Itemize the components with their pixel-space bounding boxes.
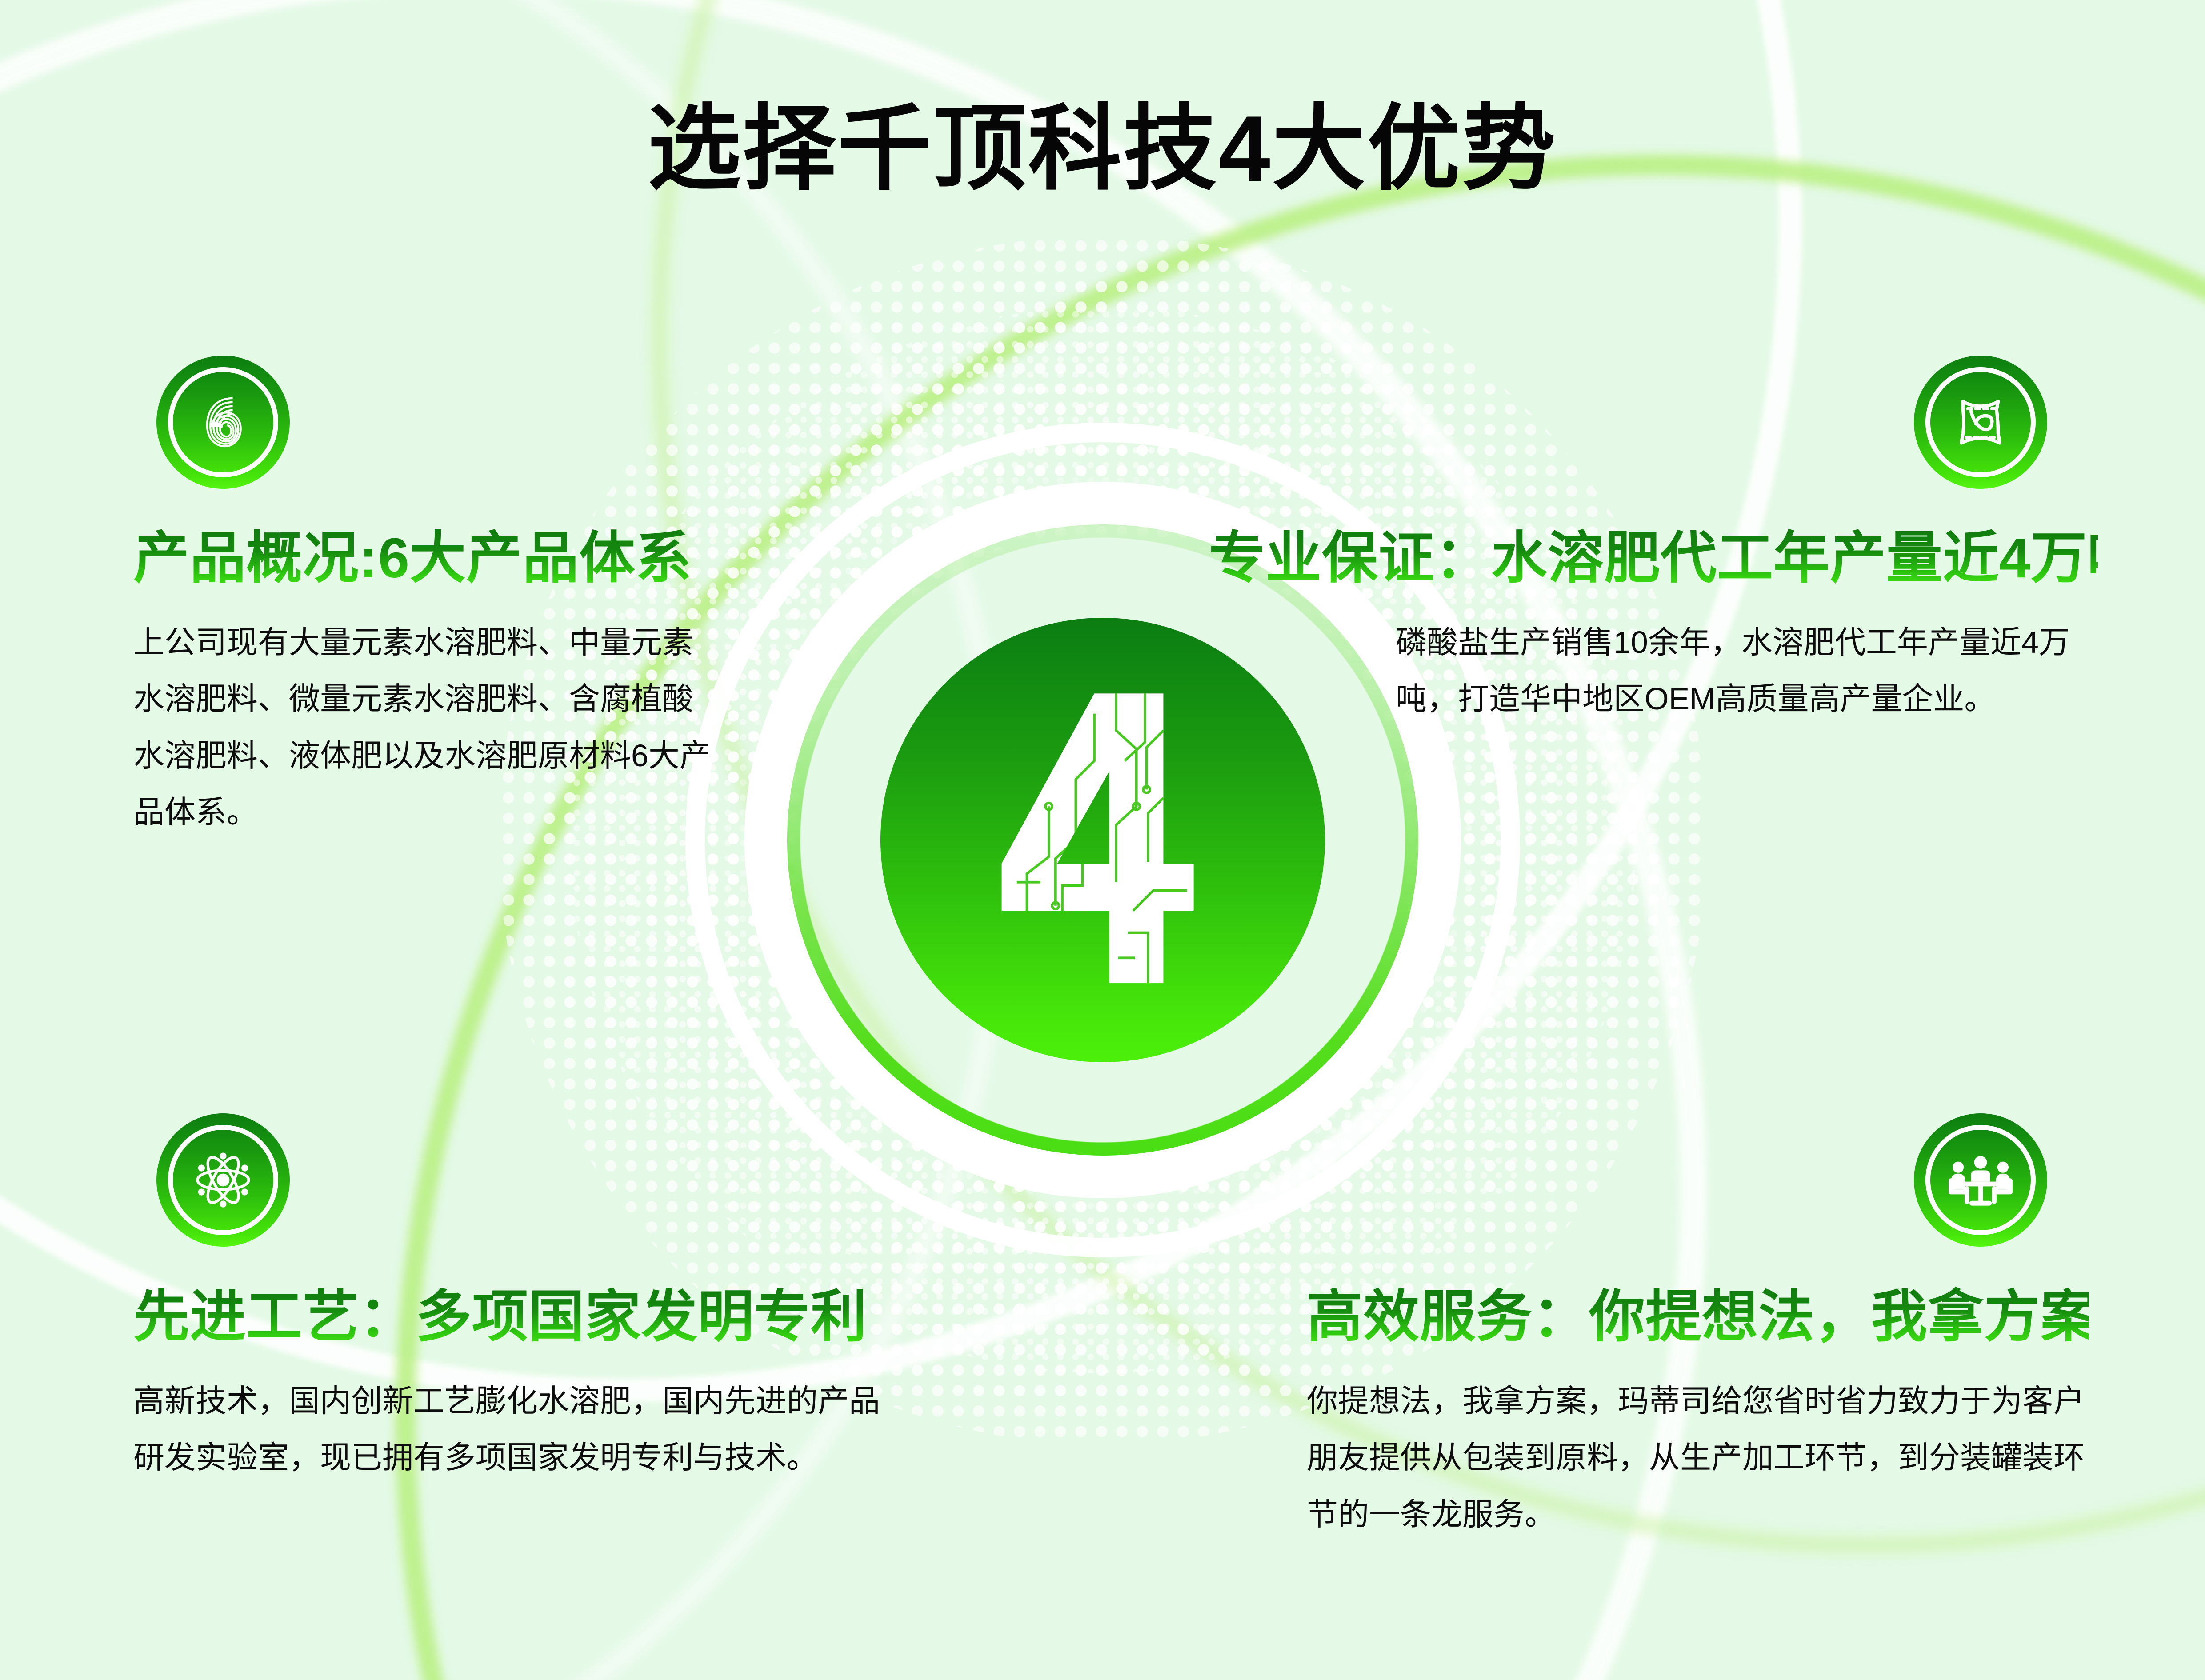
atom-icon <box>183 1140 263 1220</box>
feature-icon-professional-guarantee[interactable] <box>1914 356 2047 489</box>
feature-heading: 产品概况:6大产品体系 <box>133 528 711 588</box>
feature-block-professional-guarantee: 专业保证：水溶肥代工年产量近4万吨 磷酸盐生产销售10余年，水溶肥代工年产量近4… <box>1209 528 2098 728</box>
feature-block-advanced-process: 先进工艺：多项国家发明专利 高新技术，国内创新工艺膨化水溶肥，国内先进的产品研发… <box>133 1287 898 1486</box>
numeral-six-icon <box>183 382 263 462</box>
feature-body: 磷酸盐生产销售10余年，水溶肥代工年产量近4万吨，打造华中地区OEM高质量高产量… <box>1396 614 2098 728</box>
feature-body: 你提想法，我拿方案，玛蒂司给您省时省力致力于为客户朋友提供从包装到原料，从生产加… <box>1307 1373 2089 1543</box>
feature-body: 高新技术，国内创新工艺膨化水溶肥，国内先进的产品研发实验室，现已拥有多项国家发明… <box>133 1373 898 1486</box>
meeting-table-icon <box>1941 1140 2021 1220</box>
page-title: 选择千顶科技4大优势 <box>0 102 2205 196</box>
numeral-four-circuit-icon <box>965 680 1241 1000</box>
advantages-infographic: 选择千顶科技4大优势 产品概况:6大产品体系 上公司现有大量元素水溶肥料、中量元… <box>0 0 2205 1680</box>
feature-icon-advanced-process[interactable] <box>156 1113 290 1247</box>
feature-block-product-overview: 产品概况:6大产品体系 上公司现有大量元素水溶肥料、中量元素水溶肥料、微量元素水… <box>133 528 711 841</box>
feature-icon-product-overview[interactable] <box>156 356 290 489</box>
feature-icon-efficient-service[interactable] <box>1914 1113 2047 1247</box>
feature-block-efficient-service: 高效服务：你提想法，我拿方案 你提想法，我拿方案，玛蒂司给您省时省力致力于为客户… <box>1307 1287 2089 1543</box>
fertilizer-bag-icon <box>1941 382 2021 462</box>
feature-heading: 专业保证：水溶肥代工年产量近4万吨 <box>1209 528 2098 588</box>
feature-heading: 先进工艺：多项国家发明专利 <box>133 1287 898 1347</box>
feature-body: 上公司现有大量元素水溶肥料、中量元素水溶肥料、微量元素水溶肥料、含腐植酸水溶肥料… <box>133 614 711 841</box>
feature-heading: 高效服务：你提想法，我拿方案 <box>1307 1287 2089 1347</box>
